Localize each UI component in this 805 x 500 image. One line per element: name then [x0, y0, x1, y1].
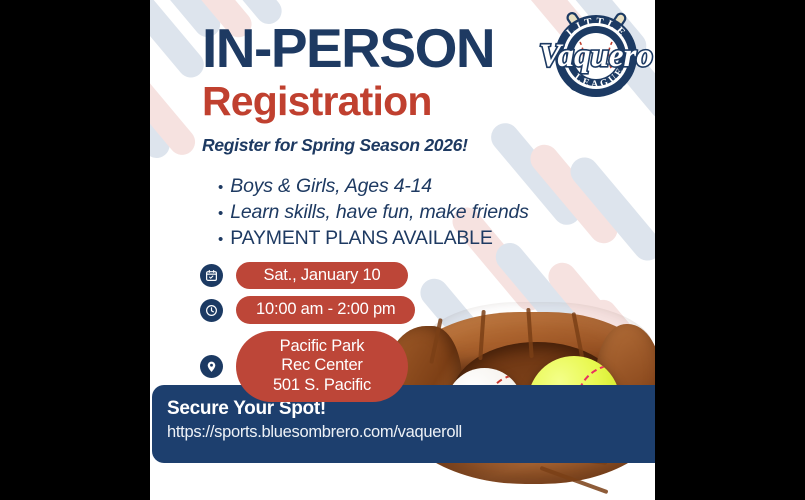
detail-row-date: Sat., January 10 — [200, 262, 415, 289]
location-line-1: Pacific Park — [256, 337, 388, 356]
detail-row-time: 10:00 am - 2:00 pm — [200, 296, 415, 323]
screenshot-stage: IN-PERSON Registration Register for Spri… — [0, 0, 805, 500]
vaquero-little-league-logo: LITTLE LEAGUE Vaquero — [535, 4, 655, 110]
location-pin-icon — [200, 355, 223, 378]
calendar-icon — [200, 264, 223, 287]
detail-row-location: Pacific Park Rec Center 501 S. Pacific — [200, 331, 415, 402]
list-item-label: Learn skills, have fun, make friends — [230, 201, 528, 224]
tagline: Register for Spring Season 2026! — [202, 135, 602, 156]
registration-url[interactable]: https://sports.bluesombrero.com/vaquerol… — [167, 423, 462, 442]
event-time-value: 10:00 am - 2:00 pm — [236, 296, 415, 323]
event-date-value: Sat., January 10 — [236, 262, 408, 289]
registration-flyer: IN-PERSON Registration Register for Spri… — [150, 0, 655, 500]
bullet-dot-icon: • — [218, 232, 223, 247]
list-item-label: PAYMENT PLANS AVAILABLE — [230, 227, 492, 250]
list-item: • Learn skills, have fun, make friends — [218, 201, 529, 224]
bullet-dot-icon: • — [218, 206, 223, 221]
event-details: Sat., January 10 10:00 am - 2:00 pm — [200, 262, 415, 409]
list-item: • PAYMENT PLANS AVAILABLE — [218, 227, 529, 250]
location-line-2: Rec Center — [256, 356, 388, 375]
event-location-value: Pacific Park Rec Center 501 S. Pacific — [236, 331, 408, 402]
location-line-3: 501 S. Pacific — [256, 376, 388, 395]
clock-icon — [200, 299, 223, 322]
benefits-list: • Boys & Girls, Ages 4-14 • Learn skills… — [218, 175, 529, 253]
bullet-dot-icon: • — [218, 180, 223, 195]
list-item: • Boys & Girls, Ages 4-14 — [218, 175, 529, 198]
list-item-label: Boys & Girls, Ages 4-14 — [230, 175, 432, 198]
logo-script-word: Vaquero — [539, 38, 653, 74]
